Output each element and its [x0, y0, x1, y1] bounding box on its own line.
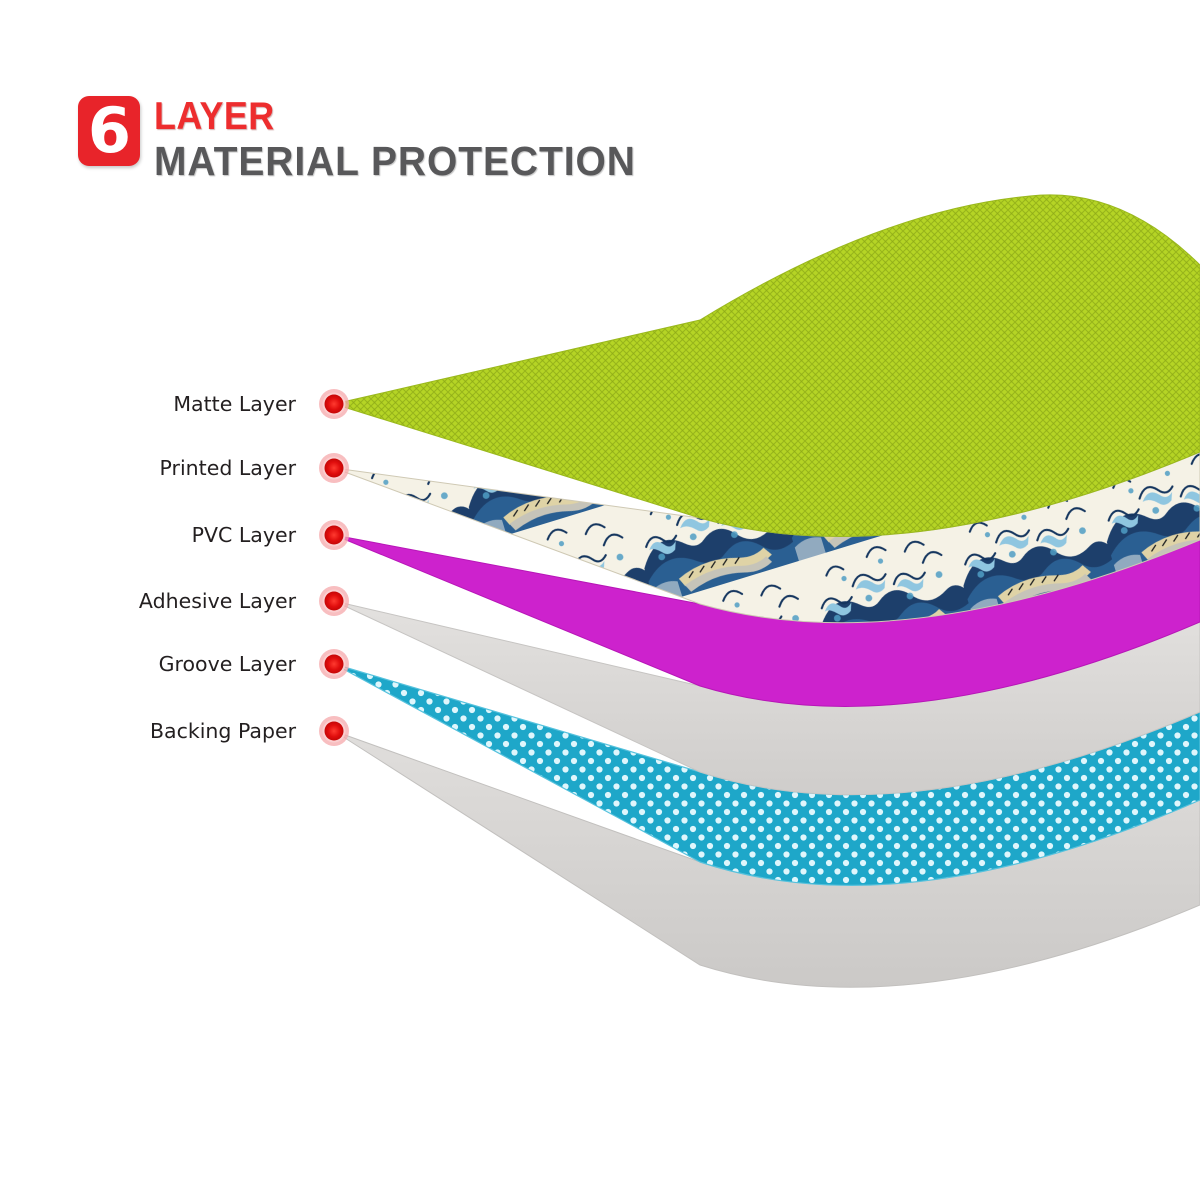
layer-label-groove-layer: Groove Layer [159, 653, 296, 675]
marker-groove-layer[interactable] [319, 649, 349, 679]
marker-matte-layer[interactable] [319, 389, 349, 419]
marker-adhesive-layer[interactable] [319, 586, 349, 616]
marker-pvc-layer[interactable] [319, 520, 349, 550]
layer-label-adhesive-layer: Adhesive Layer [139, 590, 296, 612]
infographic-canvas: 6 LAYER MATERIAL PROTECTION Matte Layer … [0, 0, 1200, 1200]
layer-label-backing-paper: Backing Paper [150, 720, 296, 742]
layer-label-printed-layer: Printed Layer [160, 457, 296, 479]
marker-backing-paper[interactable] [319, 716, 349, 746]
layer-label-matte-layer: Matte Layer [173, 393, 296, 415]
layer-label-pvc-layer: PVC Layer [192, 524, 296, 546]
marker-group [319, 389, 349, 746]
marker-printed-layer[interactable] [319, 453, 349, 483]
layer-label-list: Matte Layer Printed Layer PVC Layer Adhe… [0, 0, 296, 1200]
